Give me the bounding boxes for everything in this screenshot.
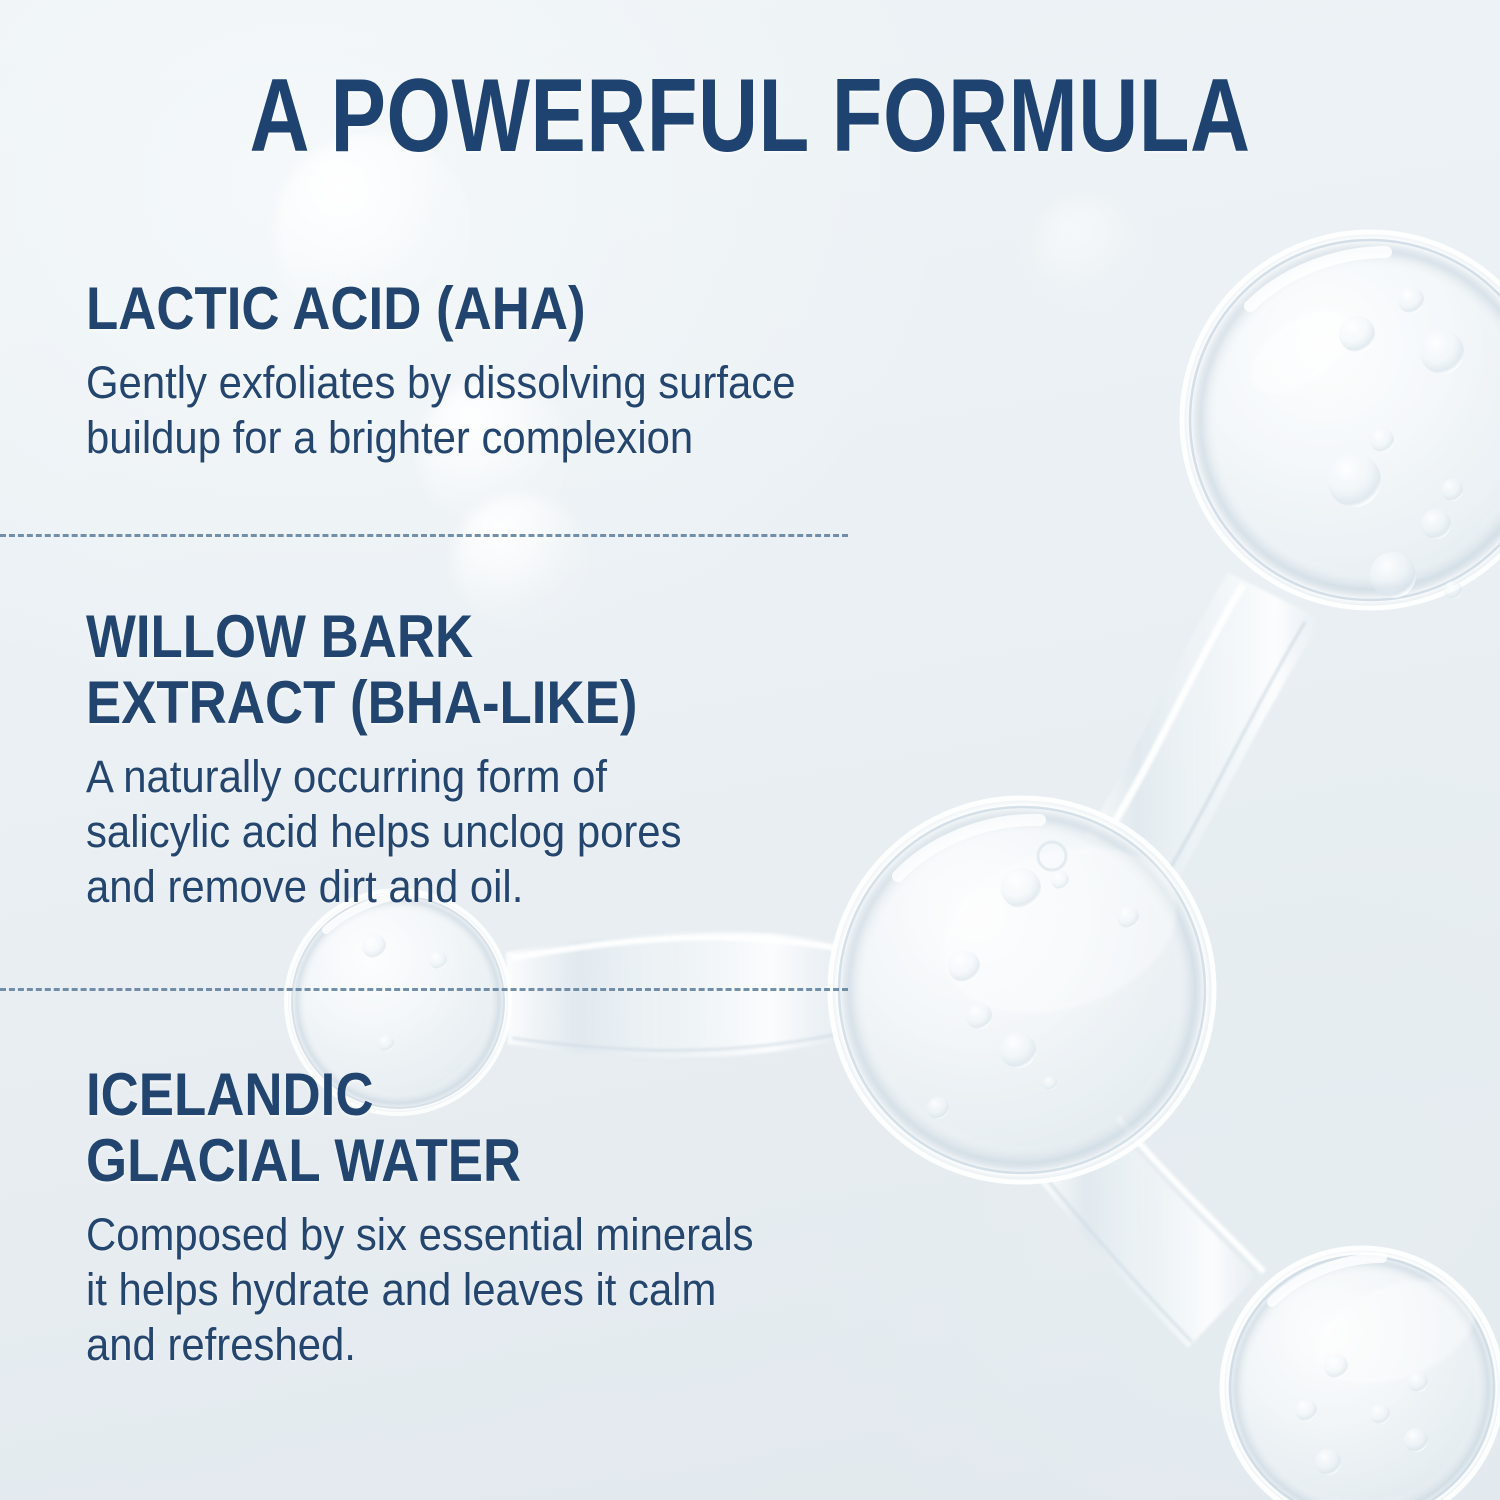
ingredient-section-lactic-acid: LACTIC ACID (AHA) Gently exfoliates by d… [86,276,986,466]
bottom-right-sphere [1222,1248,1500,1500]
poster-canvas: A POWERFUL FORMULA LACTIC ACID (AHA) Gen… [0,0,1500,1500]
blur-bubble-4-icon [1036,198,1140,302]
ingredient-heading-willow-bark-extract: WILLOW BARK EXTRACT (BHA-LIKE) [86,604,878,736]
ingredient-body-lactic-acid: Gently exfoliates by dissolving surface … [86,356,923,466]
top-right-sphere [1182,232,1500,608]
ingredient-body-icelandic-glacial-water: Composed by six essential minerals it he… [86,1208,923,1373]
section-divider-2 [0,988,848,991]
ingredient-heading-lactic-acid: LACTIC ACID (AHA) [86,276,878,342]
section-divider-1 [0,534,848,537]
connector-center-left [506,931,838,1057]
ingredient-body-willow-bark-extract: A naturally occurring form of salicylic … [86,750,923,915]
connector-center-topright [1085,572,1322,880]
ingredient-section-willow-bark-extract: WILLOW BARK EXTRACT (BHA-LIKE) A natural… [86,604,986,915]
connector-center-bottomright [1040,1118,1264,1348]
ingredient-heading-icelandic-glacial-water: ICELANDIC GLACIAL WATER [86,1062,878,1194]
page-title: A POWERFUL FORMULA [150,64,1350,168]
ingredient-section-icelandic-glacial-water: ICELANDIC GLACIAL WATER Composed by six … [86,1062,986,1373]
